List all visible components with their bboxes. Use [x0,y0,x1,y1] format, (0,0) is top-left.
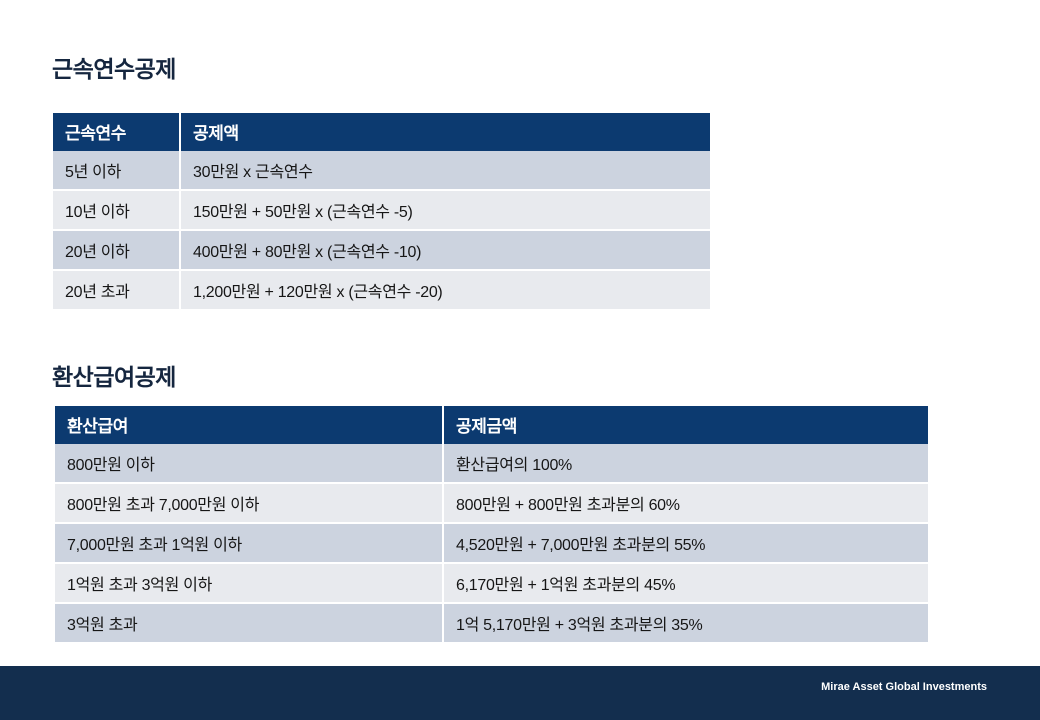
cell-deduction: 400만원 + 80만원 x (근속연수 -10) [180,230,710,270]
cell-deduction: 1,200만원 + 120만원 x (근속연수 -20) [180,270,710,309]
cell-converted-salary: 800만원 초과 7,000만원 이하 [55,483,443,523]
table-converted-salary-deduction: 환산급여 공제금액 800만원 이하 환산급여의 100% 800만원 초과 7… [55,406,928,642]
column-header-deduction: 공제액 [180,113,710,151]
column-header-years: 근속연수 [53,113,180,151]
cell-years: 20년 초과 [53,270,180,309]
cell-deduction-amount: 1억 5,170만원 + 3억원 초과분의 35% [443,603,928,642]
table-row: 5년 이하 30만원 x 근속연수 [53,151,710,190]
cell-years: 10년 이하 [53,190,180,230]
cell-converted-salary: 1억원 초과 3억원 이하 [55,563,443,603]
table-row: 10년 이하 150만원 + 50만원 x (근속연수 -5) [53,190,710,230]
cell-deduction-amount: 6,170만원 + 1억원 초과분의 45% [443,563,928,603]
footer-brand-text: Mirae Asset Global Investments [821,681,987,693]
table-header: 환산급여 공제금액 [55,406,928,444]
footer-bar [0,666,1040,720]
table-header-row: 근속연수 공제액 [53,113,710,151]
column-header-converted-salary: 환산급여 [55,406,443,444]
table-row: 20년 이하 400만원 + 80만원 x (근속연수 -10) [53,230,710,270]
section-title-converted-salary: 환산급여공제 [52,358,176,392]
slide-canvas: 근속연수공제 근속연수 공제액 5년 이하 30만원 x 근속연수 10년 이하… [0,0,1040,720]
table-body: 5년 이하 30만원 x 근속연수 10년 이하 150만원 + 50만원 x … [53,151,710,309]
cell-years: 20년 이하 [53,230,180,270]
table-row: 20년 초과 1,200만원 + 120만원 x (근속연수 -20) [53,270,710,309]
cell-converted-salary: 3억원 초과 [55,603,443,642]
table-body: 800만원 이하 환산급여의 100% 800만원 초과 7,000만원 이하 … [55,444,928,642]
cell-deduction-amount: 4,520만원 + 7,000만원 초과분의 55% [443,523,928,563]
section-title-severance-years: 근속연수공제 [52,50,176,84]
cell-converted-salary: 7,000만원 초과 1억원 이하 [55,523,443,563]
cell-deduction-amount: 800만원 + 800만원 초과분의 60% [443,483,928,523]
table-row: 7,000만원 초과 1억원 이하 4,520만원 + 7,000만원 초과분의… [55,523,928,563]
table-header-row: 환산급여 공제금액 [55,406,928,444]
table-row: 1억원 초과 3억원 이하 6,170만원 + 1억원 초과분의 45% [55,563,928,603]
table-row: 800만원 이하 환산급여의 100% [55,444,928,483]
cell-converted-salary: 800만원 이하 [55,444,443,483]
table-row: 800만원 초과 7,000만원 이하 800만원 + 800만원 초과분의 6… [55,483,928,523]
cell-deduction-amount: 환산급여의 100% [443,444,928,483]
cell-deduction: 30만원 x 근속연수 [180,151,710,190]
table-severance-years-deduction: 근속연수 공제액 5년 이하 30만원 x 근속연수 10년 이하 150만원 … [53,113,710,309]
cell-deduction: 150만원 + 50만원 x (근속연수 -5) [180,190,710,230]
table-row: 3억원 초과 1억 5,170만원 + 3억원 초과분의 35% [55,603,928,642]
table-header: 근속연수 공제액 [53,113,710,151]
column-header-deduction-amount: 공제금액 [443,406,928,444]
cell-years: 5년 이하 [53,151,180,190]
